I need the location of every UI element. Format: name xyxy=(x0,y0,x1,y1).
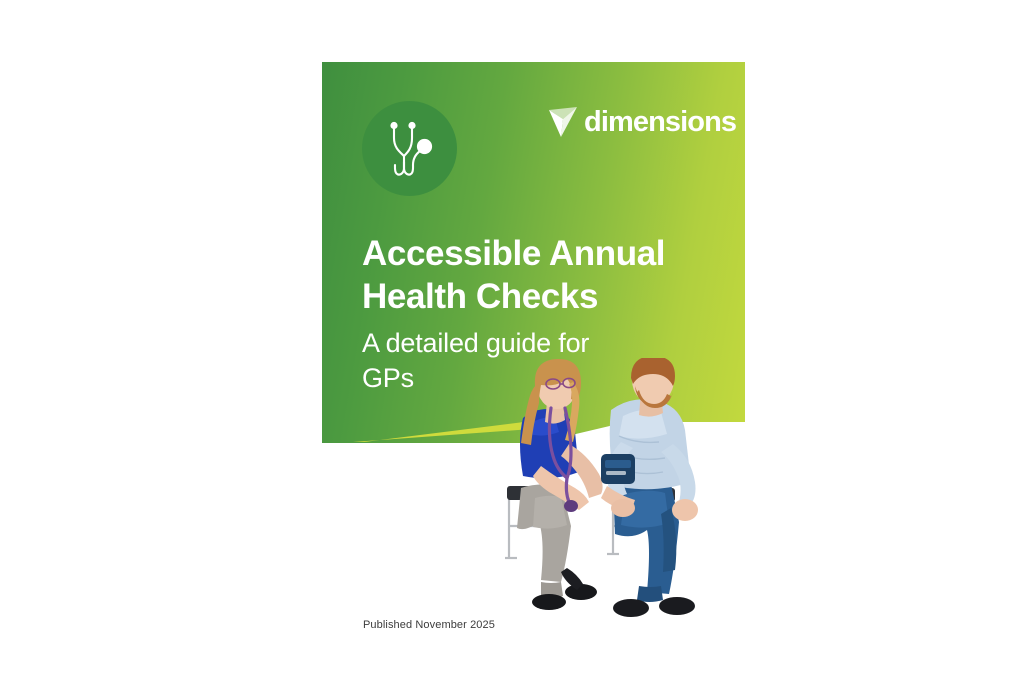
published-date: Published November 2025 xyxy=(363,619,495,631)
stethoscope-badge xyxy=(362,101,457,196)
cover-photo xyxy=(495,358,730,626)
brand-name: dimensions xyxy=(584,108,736,137)
page-title: Accessible Annual Health Checks xyxy=(362,232,702,319)
document-page: dimensions Accessible Annual Health Chec… xyxy=(0,0,1020,680)
stethoscope-icon xyxy=(382,118,438,180)
brand-logo: dimensions xyxy=(548,106,736,138)
title-line-2: Health Checks xyxy=(362,277,598,316)
title-line-1: Accessible Annual xyxy=(362,234,665,273)
dimensions-triangle-logo-icon xyxy=(548,106,578,138)
